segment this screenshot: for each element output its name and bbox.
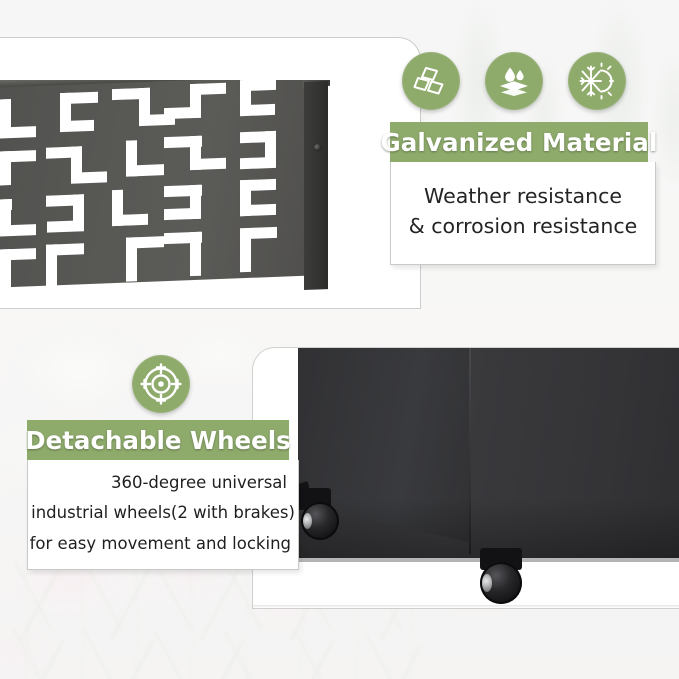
wheels-line-3: for easy movement and locking bbox=[30, 530, 293, 558]
cabinet-floor-line bbox=[253, 605, 679, 608]
galvanized-body: Weather resistance & corrosion resistanc… bbox=[390, 162, 656, 265]
metal-ingots-icon bbox=[402, 52, 460, 110]
wheels-title-bar: Detachable Wheels bbox=[27, 420, 289, 460]
laser-cut-panel-photo bbox=[0, 80, 338, 295]
panel-detail-card bbox=[0, 38, 420, 308]
galvanized-line-1: Weather resistance bbox=[424, 182, 622, 212]
galvanized-line-2: & corrosion resistance bbox=[409, 212, 637, 242]
panel-face bbox=[0, 80, 311, 288]
wheels-line-2: industrial wheels(2 with brakes) bbox=[31, 499, 295, 527]
feature-collage: Galvanized Material Weather resistance &… bbox=[0, 0, 679, 679]
wheels-line-1: 360-degree universal bbox=[111, 469, 293, 497]
galvanized-title-bar: Galvanized Material bbox=[390, 122, 648, 162]
caster-hub-left bbox=[303, 513, 312, 529]
snowflake-sun-icon bbox=[568, 52, 626, 110]
wheels-icon-wrap bbox=[132, 355, 190, 413]
wheels-title: Detachable Wheels bbox=[25, 426, 290, 455]
crosshair-target-icon bbox=[132, 355, 190, 413]
water-repellent-layers-icon bbox=[485, 52, 543, 110]
galvanized-icon-row bbox=[402, 52, 626, 110]
galvanized-title: Galvanized Material bbox=[381, 128, 658, 157]
cabinet-detail-card bbox=[253, 348, 679, 608]
hex-screw-icon bbox=[314, 144, 321, 151]
wheels-body: 360-degree universal industrial wheels(2… bbox=[27, 460, 299, 570]
caster-hub-right bbox=[482, 574, 492, 592]
panel-right-post bbox=[304, 81, 328, 290]
